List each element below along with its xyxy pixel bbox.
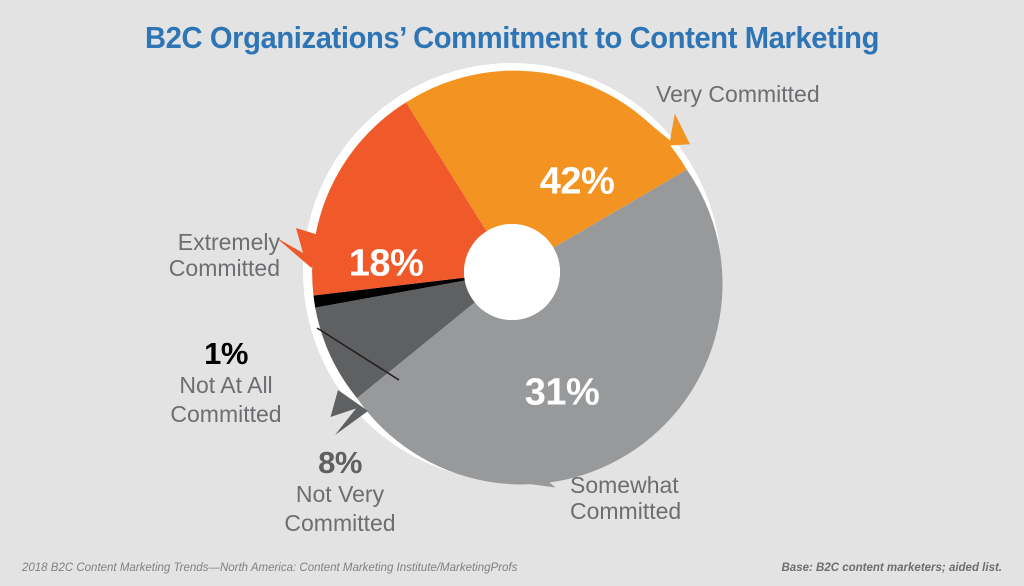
donut-center-hole	[464, 224, 560, 320]
slice-label-extremely-committed-line1: Extremely	[169, 229, 280, 255]
slice-label-extremely-committed-line2: Committed	[169, 255, 280, 281]
slice-label-somewhat-committed-line1: Somewhat	[570, 472, 681, 498]
slice-label-very-committed-line1: Very Committed	[656, 81, 820, 107]
base-footnote: Base: B2C content marketers; aided list.	[782, 562, 1003, 574]
slice-label-somewhat-committed: Somewhat Committed	[570, 472, 681, 524]
slice-value-extremely-committed: 18%	[349, 243, 424, 286]
slice-label-not-at-all-committed-line2: Committed	[170, 401, 281, 427]
slice-label-very-committed: Very Committed	[656, 81, 820, 107]
slice-label-not-at-all-committed: 1% Not At All Committed	[170, 338, 281, 427]
slice-label-somewhat-committed-line2: Committed	[570, 498, 681, 524]
slice-value-not-very-committed: 8%	[284, 447, 395, 478]
slice-value-not-at-all-committed: 1%	[170, 338, 281, 369]
slice-label-extremely-committed: Extremely Committed	[169, 229, 280, 281]
source-footnote: 2018 B2C Content Marketing Trends—North …	[22, 562, 517, 574]
slice-value-very-committed: 42%	[540, 161, 615, 204]
pie-chart: 42% 31% 18% Very Committed Somewhat Comm…	[0, 0, 1024, 586]
slice-label-not-very-committed-line1: Not Very	[284, 481, 395, 507]
slice-value-somewhat-committed: 31%	[525, 372, 600, 415]
slice-label-not-very-committed-line2: Committed	[284, 510, 395, 536]
slice-label-not-at-all-committed-line1: Not At All	[170, 372, 281, 398]
slice-label-not-very-committed: 8% Not Very Committed	[284, 447, 395, 536]
pie-chart-svg	[0, 0, 1024, 586]
